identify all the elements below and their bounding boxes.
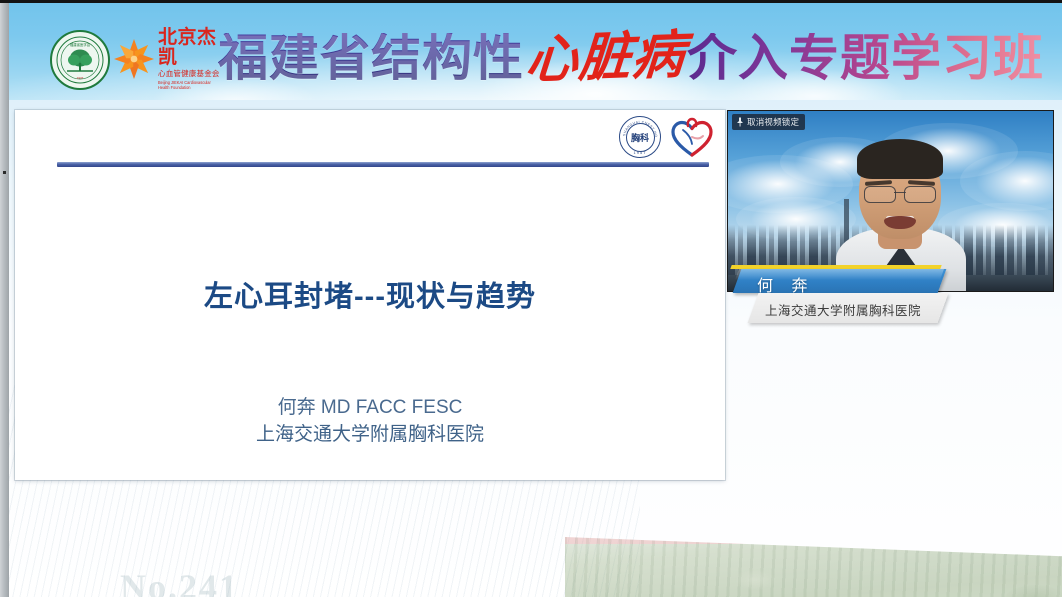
banner-title: 福建省结构性 心脏病 介入专题学习班 bbox=[218, 27, 1044, 89]
svg-text:福建省医学会: 福建省医学会 bbox=[70, 42, 91, 47]
hospital-seal-year: 1957 bbox=[620, 150, 660, 155]
tree-emblem-icon: 福建省医学会 1937 bbox=[55, 35, 105, 85]
banner-title-part1: 福建省结构性 bbox=[218, 33, 524, 83]
window-top-frame bbox=[0, 0, 1062, 3]
event-banner: 福建省医学会 1937 北京杰凯 bbox=[0, 3, 1062, 100]
background-watermark: No.241 bbox=[120, 566, 239, 597]
flower-logo-icon bbox=[112, 37, 156, 81]
pin-icon bbox=[736, 117, 744, 127]
speaker-affiliation: 上海交通大学附属胸科医院 bbox=[765, 300, 921, 319]
glasses-lens-right bbox=[904, 186, 936, 203]
unpin-video-label: 取消视频锁定 bbox=[747, 116, 799, 128]
slide-presenter-affiliation: 上海交通大学附属胸科医院 bbox=[15, 420, 725, 449]
hospital-seal-logo: 胸科 SHANGHAI CHEST HOSPITAL 1957 bbox=[619, 116, 661, 158]
slide-divider-rule bbox=[57, 162, 709, 167]
video-tower-silhouette bbox=[844, 199, 849, 243]
window-left-frame-marker bbox=[3, 171, 6, 174]
slide-logo-group: 胸科 SHANGHAI CHEST HOSPITAL 1957 bbox=[619, 116, 713, 158]
banner-title-part3: 介入专题学习班 bbox=[687, 33, 1044, 83]
foundation-name-en: Beijing JIEKAI Cardiovascular Health Fou… bbox=[158, 80, 221, 90]
heart-logo-icon bbox=[669, 117, 713, 157]
slide-presenter-name: 何奔 MD FACC FESC bbox=[15, 393, 725, 422]
foundation-name-cn: 北京杰凯 bbox=[158, 28, 224, 68]
window-left-frame bbox=[0, 3, 9, 597]
association-seal-logo: 福建省医学会 1937 bbox=[50, 30, 110, 90]
banner-title-part2: 心脏病 bbox=[524, 29, 687, 87]
unpin-video-button[interactable]: 取消视频锁定 bbox=[732, 114, 805, 130]
speaker-lower-third: 何 奔 上海交通大学附属胸科医院 bbox=[731, 263, 981, 325]
app-root: No.241 福建省医学会 1937 bbox=[0, 0, 1062, 597]
foundation-logo-text: 北京杰凯 心血管健康基金会 Beijing JIEKAI Cardiovascu… bbox=[158, 35, 224, 83]
glasses-lens-left bbox=[864, 186, 896, 203]
speaker-glasses bbox=[864, 186, 936, 201]
presentation-slide[interactable]: 胸科 SHANGHAI CHEST HOSPITAL 1957 左心耳封堵---… bbox=[15, 110, 725, 480]
svg-text:1937: 1937 bbox=[77, 76, 84, 80]
slide-title: 左心耳封堵---现状与趋势 bbox=[15, 273, 725, 315]
foundation-subtitle-cn: 心血管健康基金会 bbox=[158, 69, 224, 78]
speaker-hair bbox=[857, 139, 943, 179]
svg-text:SHANGHAI CHEST HOSPITAL: SHANGHAI CHEST HOSPITAL bbox=[620, 117, 658, 138]
